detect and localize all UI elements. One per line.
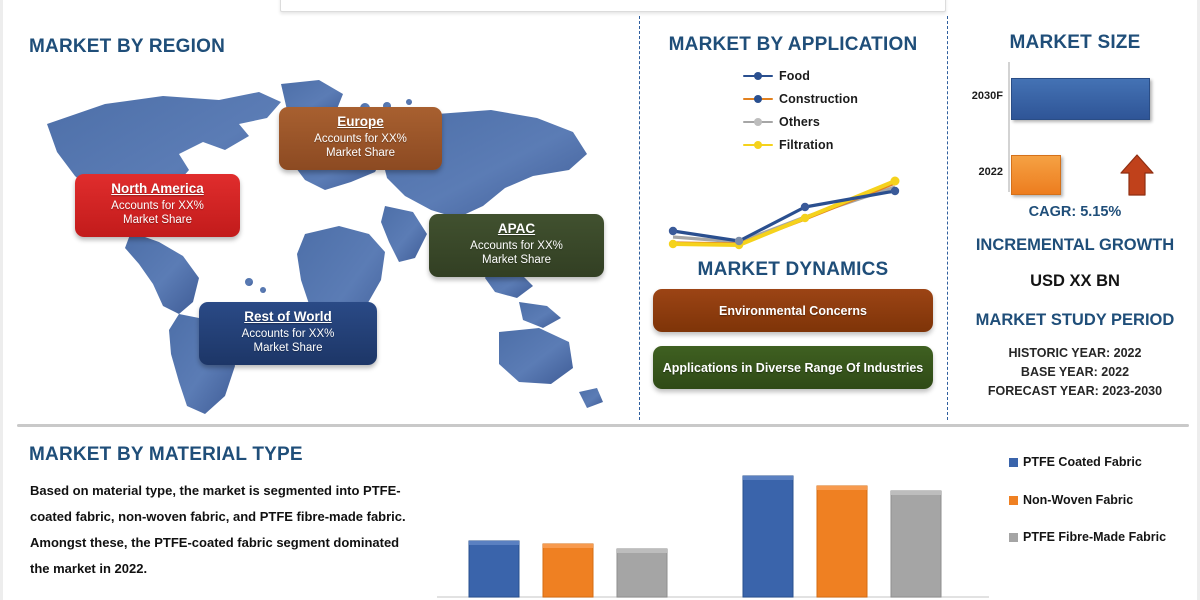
market-dynamics-item-restraint[interactable]: Environmental Concerns xyxy=(653,289,933,332)
legend-item-ptfe-fibre-made-fabric[interactable]: PTFE Fibre-Made Fabric xyxy=(1009,530,1199,546)
application-line-chart-svg xyxy=(653,169,933,254)
region-pin-line2: Market Share xyxy=(289,146,432,160)
material-type-bar-chart xyxy=(433,456,993,600)
market-dynamics-title: MARKET DYNAMICS xyxy=(639,259,947,281)
region-pin-line1: Accounts for XX% xyxy=(439,239,594,253)
region-pin-europe[interactable]: Europe Accounts for XX% Market Share xyxy=(279,107,442,170)
market-size-section: MARKET SIZE 2030F 2022 CAGR: 5.15% INCRE… xyxy=(947,14,1200,418)
legend-item-others[interactable]: Others xyxy=(743,110,858,133)
market-by-region-title: MARKET BY REGION xyxy=(29,36,225,58)
market-by-region-section: MARKET BY REGION xyxy=(3,14,619,418)
region-pin-line2: Market Share xyxy=(85,213,230,227)
line-marker-icon xyxy=(743,93,773,104)
material-type-legend: PTFE Coated Fabric Non-Woven Fabric PTFE… xyxy=(1009,455,1199,568)
region-pin-apac[interactable]: APAC Accounts for XX% Market Share xyxy=(429,214,604,277)
legend-label: Filtration xyxy=(779,138,833,152)
legend-label: Others xyxy=(779,115,820,129)
region-pin-north-america[interactable]: North America Accounts for XX% Market Sh… xyxy=(75,174,240,237)
market-size-bar-chart: 2030F 2022 xyxy=(955,62,1195,192)
region-pin-line2: Market Share xyxy=(209,341,367,355)
legend-label: PTFE Coated Fabric xyxy=(1023,455,1142,471)
legend-label: Food xyxy=(779,69,810,83)
cagr-label: CAGR: 5.15% xyxy=(947,204,1200,220)
region-pin-line1: Accounts for XX% xyxy=(289,132,432,146)
market-size-category-label: 2030F xyxy=(955,90,1003,102)
market-by-material-type-title: MARKET BY MATERIAL TYPE xyxy=(29,444,303,466)
legend-item-food[interactable]: Food xyxy=(743,64,858,87)
market-size-axis xyxy=(1008,62,1010,192)
study-period-historic-year: HISTORIC YEAR: 2022 xyxy=(947,346,1200,360)
region-pin-name: Rest of World xyxy=(209,309,367,325)
application-legend: Food Construction Others Filtration xyxy=(743,64,858,156)
legend-label: PTFE Fibre-Made Fabric xyxy=(1023,530,1166,546)
legend-swatch-icon xyxy=(1009,458,1018,467)
line-marker-icon xyxy=(743,116,773,127)
line-marker-icon xyxy=(743,70,773,81)
study-period-forecast-year: FORECAST YEAR: 2023-2030 xyxy=(947,384,1200,398)
horizontal-divider xyxy=(17,424,1189,427)
region-pin-rest-of-world[interactable]: Rest of World Accounts for XX% Market Sh… xyxy=(199,302,377,365)
region-pin-name: North America xyxy=(85,181,230,197)
top-banner-card xyxy=(280,0,946,12)
legend-swatch-icon xyxy=(1009,496,1018,505)
market-size-bar-2022 xyxy=(1011,155,1061,195)
region-pin-line2: Market Share xyxy=(439,253,594,267)
legend-label: Non-Woven Fabric xyxy=(1023,493,1133,509)
study-period-base-year: BASE YEAR: 2022 xyxy=(947,365,1200,379)
market-by-application-section: MARKET BY APPLICATION Food Construction … xyxy=(639,14,947,418)
region-pin-name: Europe xyxy=(289,114,432,130)
legend-item-filtration[interactable]: Filtration xyxy=(743,133,858,156)
market-dynamics-label: Applications in Diverse Range Of Industr… xyxy=(663,361,923,375)
growth-arrow-icon xyxy=(1120,154,1154,196)
market-by-application-title: MARKET BY APPLICATION xyxy=(639,34,947,56)
market-dynamics-label: Environmental Concerns xyxy=(719,304,867,318)
material-type-description: Based on material type, the market is se… xyxy=(30,478,422,582)
line-marker-icon xyxy=(743,139,773,150)
incremental-growth-title: INCREMENTAL GROWTH xyxy=(947,236,1200,255)
market-size-category-label: 2022 xyxy=(955,166,1003,178)
legend-item-non-woven-fabric[interactable]: Non-Woven Fabric xyxy=(1009,493,1199,509)
market-size-title: MARKET SIZE xyxy=(947,32,1200,54)
legend-label: Construction xyxy=(779,92,858,106)
market-study-period-title: MARKET STUDY PERIOD xyxy=(947,311,1200,330)
application-line-chart xyxy=(653,169,933,254)
infographic-page: MARKET BY REGION xyxy=(0,0,1200,600)
region-pin-line1: Accounts for XX% xyxy=(209,327,367,341)
region-pin-line1: Accounts for XX% xyxy=(85,199,230,213)
market-size-bar-2030f xyxy=(1011,78,1150,120)
legend-swatch-icon xyxy=(1009,533,1018,542)
incremental-growth-value: USD XX BN xyxy=(947,272,1200,291)
material-type-bar-chart-svg xyxy=(433,456,993,600)
region-pin-name: APAC xyxy=(439,221,594,237)
legend-item-construction[interactable]: Construction xyxy=(743,87,858,110)
market-dynamics-item-driver[interactable]: Applications in Diverse Range Of Industr… xyxy=(653,346,933,389)
legend-item-ptfe-coated-fabric[interactable]: PTFE Coated Fabric xyxy=(1009,455,1199,471)
